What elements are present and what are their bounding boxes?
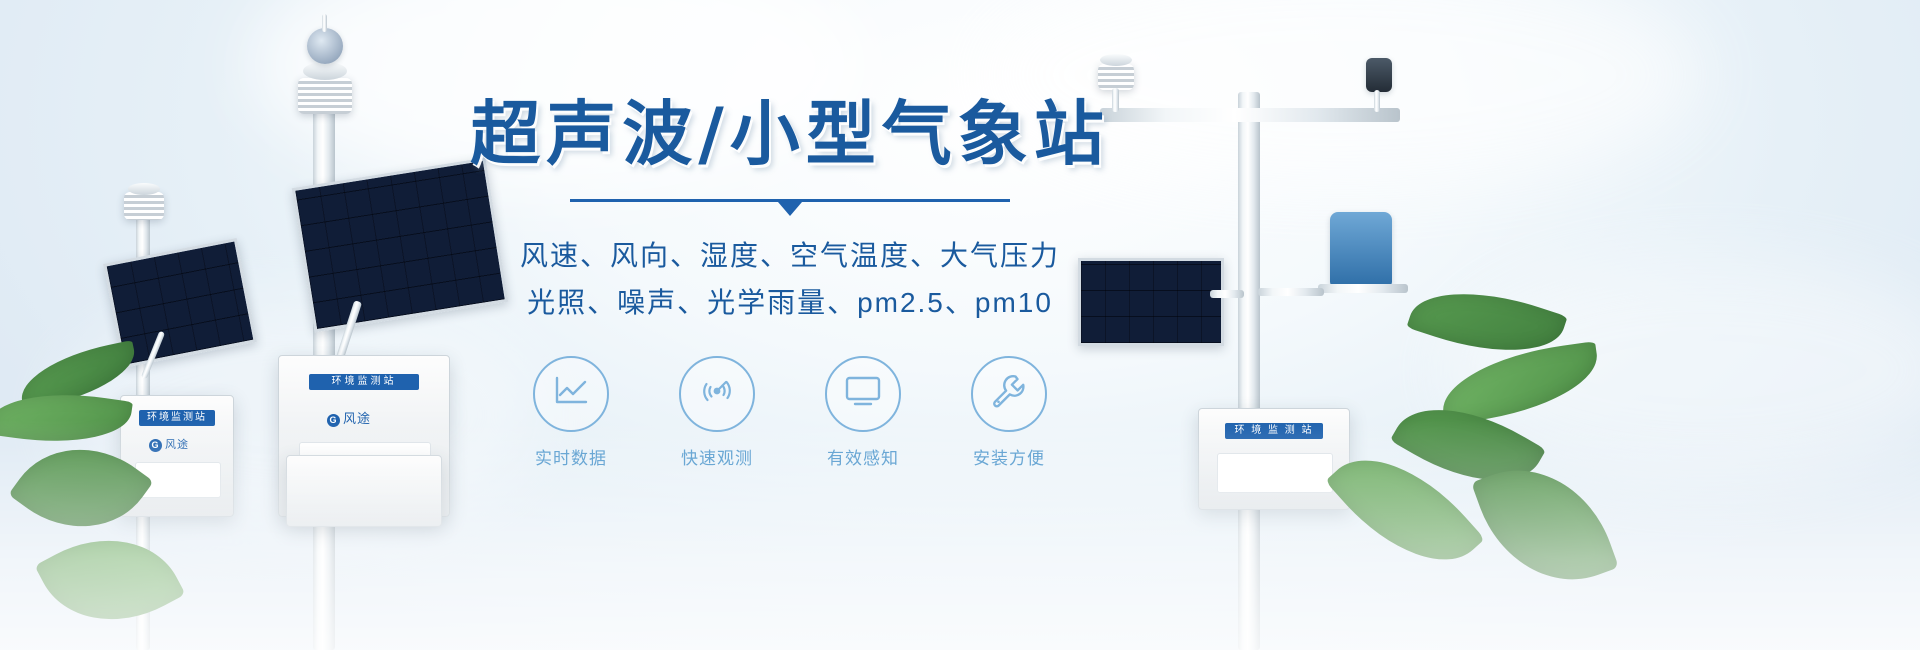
feature-icon-circle [679,356,755,432]
ultrasonic-wind-sensor [307,28,343,64]
radiation-shield-sensor [1098,64,1134,90]
feature-item-easy-installation[interactable]: 安装方便 [966,356,1052,469]
feature-item-realtime-data[interactable]: 实时数据 [528,356,614,469]
title-divider [570,199,1010,213]
sensor-stem [322,14,327,32]
shelf-arm [1258,288,1324,296]
sensor-cap [128,183,160,195]
monitor-display-icon [842,374,884,413]
feature-label: 快速观测 [674,444,760,469]
feature-list: 实时数据 快速观测 [430,356,1150,469]
feature-icon-circle [533,356,609,432]
feature-icon-circle [825,356,901,432]
subtitle-line-2: 光照、噪声、光学雨量、pm2.5、pm10 [430,280,1150,325]
feature-item-effective-sensing[interactable]: 有效感知 [820,356,906,469]
banner-content: 超声波/小型气象站 风速、风向、湿度、空气温度、大气压力 光照、噪声、光学雨量、… [430,96,1150,469]
rain-gauge-sensor [1330,212,1392,286]
product-hero-banner: 环境监测站 G风途 环境监测站 G风途 [0,0,1920,650]
wrench-icon [989,371,1029,416]
subtitle-line-1: 风速、风向、湿度、空气温度、大气压力 [430,233,1150,278]
sensor-cap [1100,54,1132,66]
radiation-shield-sensor [124,192,164,220]
feature-icon-circle [971,356,1047,432]
feature-item-fast-observation[interactable]: 快速观测 [674,356,760,469]
cabinet-label: 环境监测站 [309,374,419,390]
feature-label: 有效感知 [820,444,906,469]
page-title: 超声波/小型气象站 [430,96,1150,173]
feature-label: 安装方便 [966,444,1052,469]
sensor-cap [303,62,347,80]
sensor-stem [1374,90,1380,112]
panel-arm [1210,290,1244,298]
radiation-shield-sensor [298,78,352,114]
sensor-shelf [1318,284,1408,293]
radar-signal-icon [697,371,737,416]
chevron-down-icon [778,202,802,216]
feature-label: 实时数据 [528,444,614,469]
line-chart-icon [551,373,591,414]
anemometer-sensor [1366,58,1392,92]
